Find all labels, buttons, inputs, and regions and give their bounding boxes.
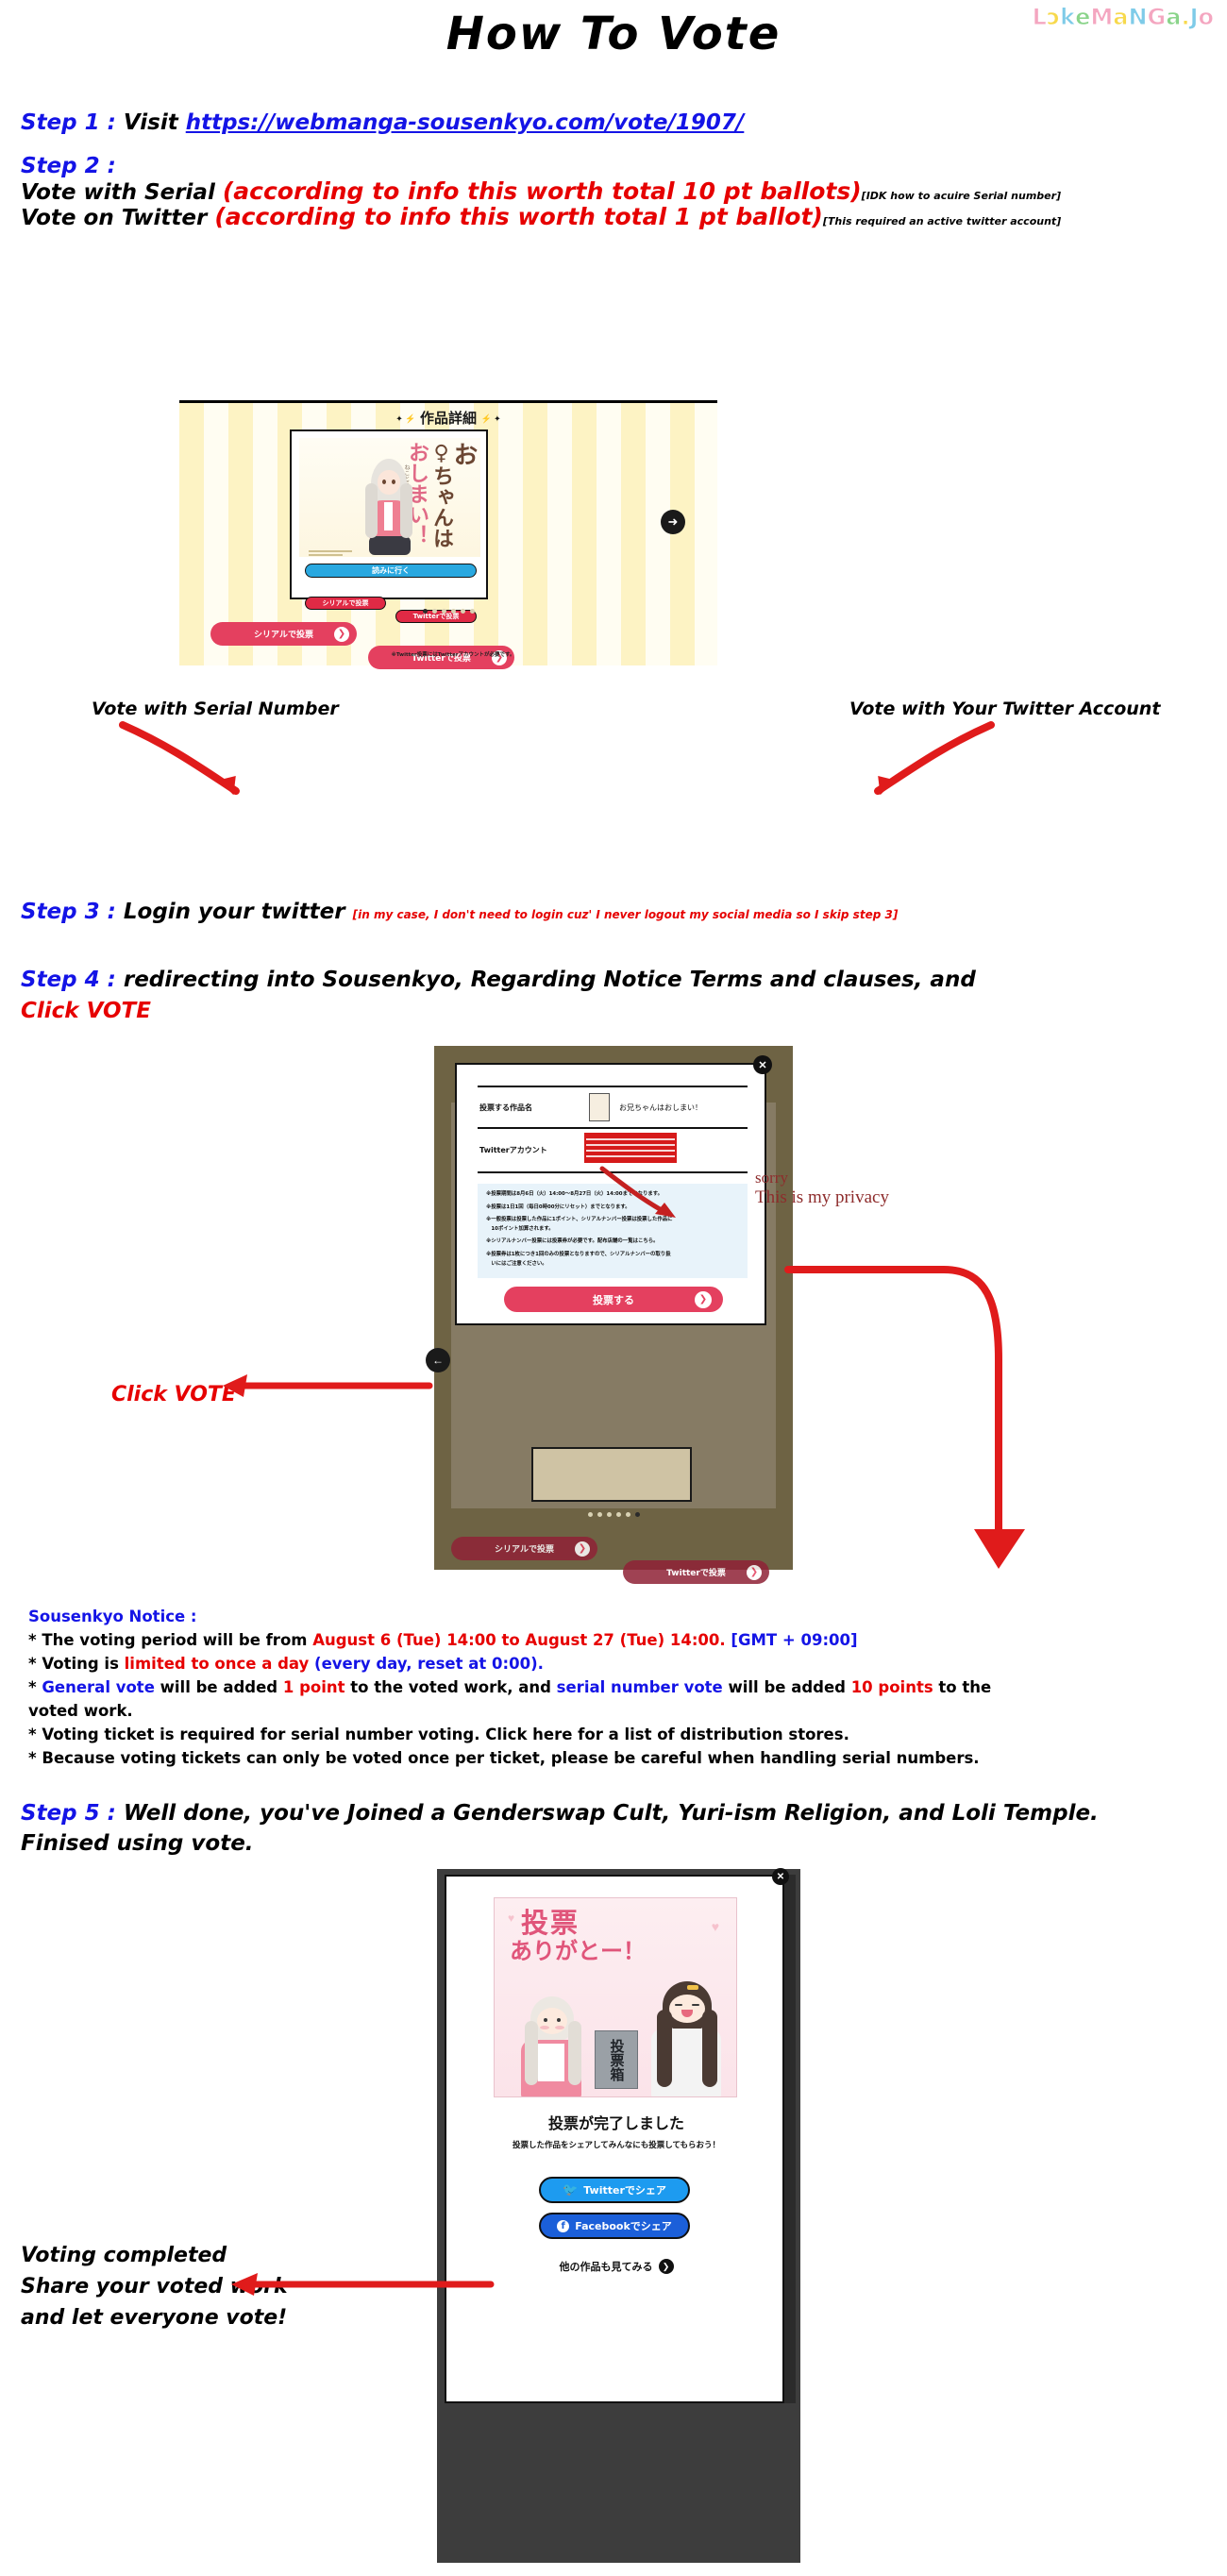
- step-3-label: Step 3 :: [21, 900, 116, 924]
- step-4-label: Step 4 :: [21, 968, 116, 992]
- notice-segment: General vote: [42, 1678, 155, 1696]
- chevron-right-icon: ❯: [659, 2259, 674, 2274]
- footer-twitter-note: ※Twitter投票にはTwitterアカウントが必要です。: [368, 650, 538, 658]
- backdrop-carousel-dots[interactable]: [434, 1512, 793, 1517]
- carousel-dot[interactable]: [607, 1512, 612, 1517]
- notice-segment: *: [28, 1678, 42, 1696]
- facebook-icon: f: [557, 2220, 569, 2232]
- backdrop-cover-thumb: [531, 1447, 692, 1502]
- page-title: How To Vote: [0, 8, 1227, 60]
- vote-notice-line: ※投票は1日1回（毎日0時00分にリセット）までとなります。: [486, 1204, 739, 1213]
- thanks-modal: ✕ ♥ ♥ ♥ ♥ 投票 ありがとー！: [445, 1875, 784, 2403]
- annotation-privacy: This is my privacy: [755, 1187, 889, 1208]
- vote-notice-line: ※シリアルナンバー投票には投票券が必要です。配布店舗の一覧はこちら。: [486, 1237, 739, 1247]
- step-3-text: Login your twitter: [124, 900, 345, 924]
- notice-segment: * Voting is: [28, 1655, 125, 1673]
- heart-icon: ♥: [508, 1911, 514, 1925]
- backdrop-serial-vote-label: シリアルで投票: [495, 1542, 554, 1555]
- carousel-dot[interactable]: [451, 609, 456, 614]
- next-arrow-icon[interactable]: ➜: [661, 510, 685, 534]
- step-2-serial-note: [IDK how to acuire Serial number]: [862, 190, 1061, 202]
- vote-notice-line: ※投票期間は8月6日（火）14:00～8月27日（火）14:00までとなります。: [486, 1190, 739, 1200]
- vote-work-label: 投票する作品名: [479, 1103, 532, 1113]
- vote-notice-box: ※投票期間は8月6日（火）14:00～8月27日（火）14:00までとなります。…: [478, 1184, 748, 1278]
- completed-subtitle: 投票した作品をシェアしてみんなにも投票してもらおう！: [446, 2139, 786, 2150]
- backdrop-serial-vote-button[interactable]: シリアルで投票 ❯: [451, 1537, 597, 1560]
- arrow-to-serial-button: [113, 717, 302, 812]
- step-2-twitter-note: [This required an active twitter account…: [823, 215, 1061, 227]
- screenshot-thanks-modal: ✕ ♥ ♥ ♥ ♥ 投票 ありがとー！: [437, 1869, 800, 2563]
- close-icon[interactable]: ✕: [772, 1868, 789, 1885]
- step-3-line: Step 3 : Login your twitter [in my case,…: [21, 900, 898, 924]
- read-button-label: 読みに行く: [372, 565, 410, 576]
- backdrop-twitter-vote-label: Twitterで投票: [666, 1566, 726, 1578]
- step-2-label: Step 2 :: [21, 154, 116, 178]
- annotation-sorry: sorry: [755, 1169, 788, 1187]
- twitter-share-label: Twitterでシェア: [583, 2182, 666, 2197]
- notice-segment: (every day, reset at 0:00).: [314, 1655, 544, 1673]
- step-2-twitter-text: Vote on Twitter: [21, 206, 207, 230]
- carousel-dots[interactable]: [179, 609, 717, 614]
- card-serial-vote-label: シリアルで投票: [323, 598, 369, 608]
- step-5-text-1: Well done, you've Joined a Genderswap Cu…: [124, 1801, 1099, 1826]
- step-2-serial-text: Vote with Serial: [21, 180, 215, 205]
- step-4-line-1: Step 4 : redirecting into Sousenkyo, Reg…: [21, 968, 976, 992]
- twitter-share-button[interactable]: 🐦 Twitterでシェア: [539, 2177, 690, 2203]
- notice-segment: 10 points: [851, 1678, 933, 1696]
- notice-segment: * Voting ticket is required for serial n…: [28, 1726, 849, 1743]
- twitter-account-label: Twitterアカウント: [479, 1145, 547, 1155]
- vote-notice-line: いにはご注意ください。: [486, 1260, 739, 1270]
- notice-segment: serial number vote: [557, 1678, 723, 1696]
- screenshot-vote-modal: ← シリアルで投票 ❯ Twitterで投票 ❯ ✕ 投票する作品名 お兄ちゃん…: [434, 1046, 793, 1570]
- annotation-voting-completed-3: and let everyone vote!: [21, 2306, 287, 2330]
- close-icon[interactable]: ✕: [753, 1055, 772, 1074]
- arrow-notice-to-text: [783, 1218, 1048, 1614]
- step-2-line-2: Vote on Twitter (according to info this …: [21, 203, 1061, 230]
- step-1-label: Step 1 :: [21, 110, 116, 135]
- carousel-dot[interactable]: [597, 1512, 602, 1517]
- divider: [478, 1127, 748, 1129]
- other-works-label: 他の作品も見てみる: [560, 2259, 653, 2274]
- character-left: [515, 1996, 589, 2097]
- card-serial-vote-button[interactable]: シリアルで投票: [305, 597, 386, 610]
- poster-text-2: ありがとー！: [510, 1940, 646, 1962]
- notice-line: * Voting ticket is required for serial n…: [28, 1723, 1208, 1746]
- read-button[interactable]: 読みに行く: [305, 564, 477, 578]
- thanks-illustration: ♥ ♥ ♥ ♥ 投票 ありがとー！ 投票箱: [494, 1897, 737, 2097]
- vote-url-link[interactable]: https://webmanga-sousenkyo.com/vote/1907…: [186, 110, 745, 135]
- work-detail-title: 作品詳細: [420, 410, 477, 427]
- vote-modal: ✕ 投票する作品名 お兄ちゃんはおしまい！ Twitterアカウント ※投票期間…: [455, 1063, 766, 1325]
- notice-line: voted work.: [28, 1699, 1208, 1723]
- vote-notice-text: ※投票期間は8月6日（火）14:00～8月27日（火）14:00までとなります。…: [486, 1190, 739, 1269]
- chevron-right-icon: ❯: [695, 1291, 712, 1308]
- carousel-dot[interactable]: [461, 609, 465, 614]
- vote-work-value: お兄ちゃんはおしまい！: [619, 1103, 702, 1113]
- step-2-serial-value: (according to info this worth total 10 p…: [223, 177, 862, 205]
- divider: [478, 1086, 748, 1087]
- carousel-dot[interactable]: [423, 609, 428, 614]
- screenshot-work-detail: ✦ ⚡ 作品詳細 ⚡ ✦ お ♀ちゃんは おしまい！ ねことうふ: [179, 400, 717, 665]
- notice-segment: voted work.: [28, 1702, 133, 1720]
- step-1-line: Step 1 : Visit https://webmanga-sousenky…: [21, 110, 744, 135]
- step-4-click-vote: Click VOTE: [21, 999, 151, 1023]
- notice-lines: * The voting period will be from August …: [28, 1628, 1208, 1770]
- notice-segment: to the: [933, 1678, 992, 1696]
- annotation-vote-serial: Vote with Serial Number: [92, 699, 339, 719]
- notice-segment: limited to once a day: [125, 1655, 310, 1673]
- step-5-label: Step 5 :: [21, 1801, 116, 1826]
- arrow-to-twitter-button: [812, 717, 1000, 812]
- carousel-dot[interactable]: [470, 609, 475, 614]
- character-right: [646, 1981, 727, 2097]
- carousel-dot[interactable]: [432, 609, 437, 614]
- annotation-click-vote: Click VOTE: [111, 1383, 236, 1406]
- notice-segment: will be added: [155, 1678, 283, 1696]
- annotation-voting-completed-2: Share your voted work: [21, 2275, 288, 2298]
- sparkle-right-icon: ⚡ ✦: [480, 414, 500, 424]
- work-card[interactable]: お ♀ちゃんは おしまい！ ねことうふ 読みに行く: [290, 429, 488, 599]
- work-detail-header: ✦ ⚡ 作品詳細 ⚡ ✦: [179, 408, 717, 428]
- carousel-dot[interactable]: [616, 1512, 621, 1517]
- twitter-account-redaction: [584, 1133, 677, 1163]
- notice-line: * Voting is limited to once a day (every…: [28, 1652, 1208, 1675]
- facebook-share-button[interactable]: f Facebookでシェア: [539, 2213, 690, 2239]
- step-2-twitter-value: (according to info this worth total 1 pt…: [214, 203, 823, 230]
- vote-notice-line: ※一般投票は投票した作品に1ポイント、シリアルナンバー投票は投票した作品に: [486, 1216, 739, 1225]
- notice-segment: August 6 (Tue) 14:00 to August 27 (Tue) …: [312, 1631, 725, 1649]
- vote-submit-label: 投票する: [593, 1292, 634, 1307]
- notice-segment: will be added: [723, 1678, 851, 1696]
- completed-title: 投票が完了しました: [446, 2111, 786, 2133]
- step-5-line-1: Step 5 : Well done, you've Joined a Gend…: [21, 1801, 1099, 1826]
- annotation-voting-completed-1: Voting completed: [21, 2244, 227, 2267]
- ballot-box-label: 投票箱: [610, 2039, 624, 2081]
- prev-arrow-icon[interactable]: ←: [426, 1348, 450, 1372]
- footer-serial-vote-button[interactable]: シリアルで投票 ❯: [210, 622, 357, 646]
- carousel-dot[interactable]: [442, 609, 446, 614]
- sousenkyo-notice: Sousenkyo Notice : * The voting period w…: [28, 1605, 1208, 1770]
- step-4-text: redirecting into Sousenkyo, Regarding No…: [124, 968, 976, 992]
- step-2-line-1: Vote with Serial (according to info this…: [21, 177, 1061, 205]
- notice-segment: 1 point: [283, 1678, 345, 1696]
- vote-work-thumbnail: [589, 1093, 610, 1121]
- vote-submit-button[interactable]: 投票する ❯: [504, 1287, 723, 1312]
- carousel-dot[interactable]: [635, 1512, 640, 1517]
- backdrop-twitter-vote-button[interactable]: Twitterで投票 ❯: [623, 1560, 769, 1584]
- divider: [478, 1171, 748, 1173]
- notice-line: * General vote will be added 1 point to …: [28, 1675, 1208, 1699]
- other-works-link[interactable]: 他の作品も見てみる ❯: [446, 2259, 786, 2274]
- carousel-dot[interactable]: [588, 1512, 593, 1517]
- notice-segment: * The voting period will be from: [28, 1631, 312, 1649]
- cover-character-illustration: [358, 459, 420, 557]
- notice-segment: [GMT + 09:00]: [731, 1631, 857, 1649]
- chevron-right-icon: ❯: [575, 1541, 590, 1557]
- step-3-note: [in my case, I don't need to login cuz' …: [353, 908, 899, 921]
- vote-notice-line: ※投票券は1枚につき1回のみの投票となりますので、シリアルナンバーの取り扱: [486, 1251, 739, 1260]
- poster-text-1: 投票: [521, 1910, 580, 1937]
- chevron-right-icon: ❯: [747, 1565, 762, 1580]
- annotation-vote-twitter: Vote with Your Twitter Account: [849, 699, 1160, 719]
- notice-segment: to the voted work, and: [345, 1678, 557, 1696]
- twitter-icon: 🐦: [563, 2183, 578, 2197]
- ballot-box: 投票箱: [595, 2030, 638, 2089]
- heart-icon: ♥: [712, 1919, 719, 1934]
- facebook-share-label: Facebookでシェア: [575, 2218, 672, 2233]
- work-cover-image: お ♀ちゃんは おしまい！ ねことうふ: [299, 438, 480, 557]
- notice-segment: * Because voting tickets can only be vot…: [28, 1749, 980, 1767]
- sparkle-left-icon: ✦ ⚡: [395, 414, 415, 424]
- step-1-text: Visit: [124, 110, 178, 135]
- notice-line: * Because voting tickets can only be vot…: [28, 1746, 1208, 1770]
- carousel-dot[interactable]: [626, 1512, 630, 1517]
- chevron-right-icon: ❯: [334, 627, 349, 642]
- vote-notice-line: 10ポイント加算されます。: [486, 1225, 739, 1235]
- footer-serial-vote-label: シリアルで投票: [254, 628, 313, 640]
- notice-heading: Sousenkyo Notice :: [28, 1605, 1208, 1628]
- step-5-text-2: Finised using vote.: [21, 1831, 254, 1856]
- notice-line: * The voting period will be from August …: [28, 1628, 1208, 1652]
